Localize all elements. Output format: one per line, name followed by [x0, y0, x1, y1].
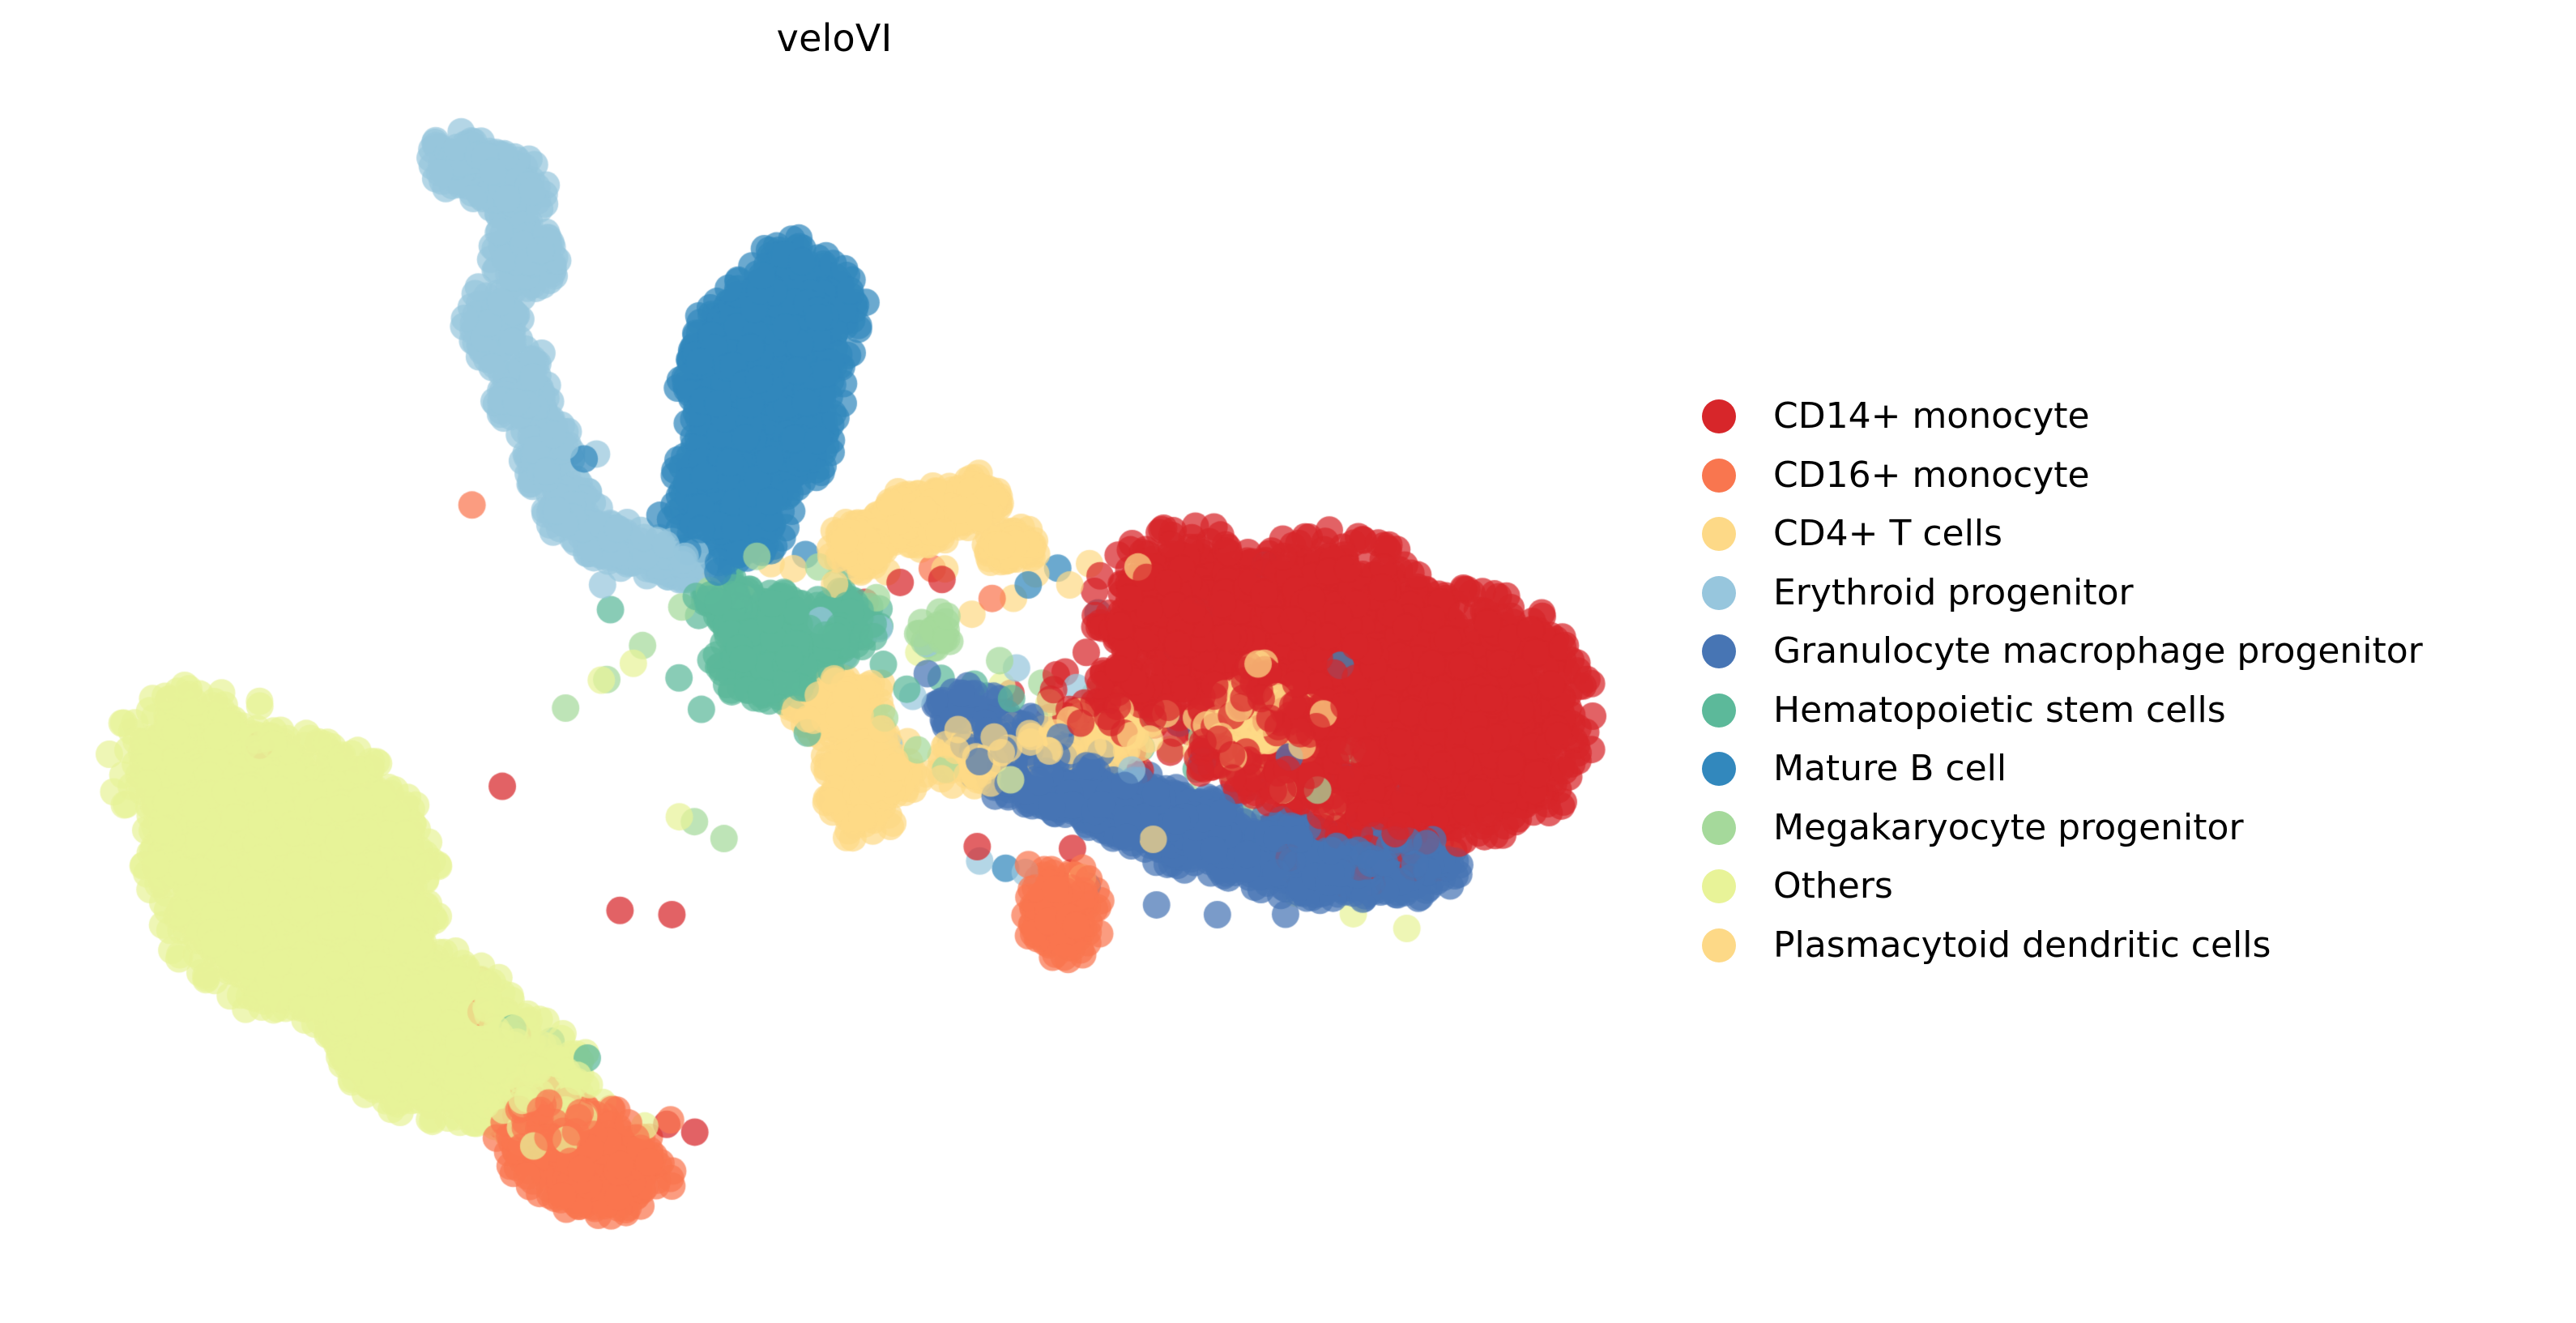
legend-item-label: CD14+ monocyte — [1773, 399, 2090, 434]
legend-item[interactable]: Plasmacytoid dendritic cells — [1689, 916, 2548, 975]
legend-item-label: Megakaryocyte progenitor — [1773, 810, 2244, 846]
legend-item[interactable]: Others — [1689, 857, 2548, 916]
figure-container: veloVI CD14+ monocyteCD16+ monocyteCD4+ … — [0, 0, 2576, 1323]
legend-item[interactable]: CD14+ monocyte — [1689, 387, 2548, 446]
legend-item[interactable]: CD16+ monocyte — [1689, 446, 2548, 506]
legend-marker-icon — [1702, 694, 1736, 728]
legend-marker-icon — [1702, 634, 1736, 668]
legend-item[interactable]: Megakaryocyte progenitor — [1689, 799, 2548, 858]
legend-item[interactable]: Erythroid progenitor — [1689, 564, 2548, 623]
legend-marker-icon — [1702, 399, 1736, 433]
legend: CD14+ monocyteCD16+ monocyteCD4+ T cells… — [1689, 387, 2548, 975]
legend-item-label: Others — [1773, 868, 1893, 904]
legend-item-label: CD16+ monocyte — [1773, 458, 2090, 493]
legend-marker-icon — [1702, 459, 1736, 493]
legend-item[interactable]: Mature B cell — [1689, 740, 2548, 799]
page-title: veloVI — [0, 16, 1669, 60]
legend-marker-icon — [1702, 811, 1736, 845]
legend-item-label: Granulocyte macrophage progenitor — [1773, 634, 2423, 669]
legend-item-label: Mature B cell — [1773, 751, 2007, 787]
legend-item[interactable]: Hematopoietic stem cells — [1689, 681, 2548, 740]
legend-item-label: Hematopoietic stem cells — [1773, 693, 2226, 728]
legend-marker-icon — [1702, 869, 1736, 903]
legend-marker-icon — [1702, 752, 1736, 786]
legend-marker-icon — [1702, 928, 1736, 962]
legend-marker-icon — [1702, 517, 1736, 551]
legend-item-label: Erythroid progenitor — [1773, 575, 2134, 611]
legend-item-label: CD4+ T cells — [1773, 516, 2002, 552]
legend-item-label: Plasmacytoid dendritic cells — [1773, 928, 2271, 963]
legend-item[interactable]: Granulocyte macrophage progenitor — [1689, 622, 2548, 681]
legend-item[interactable]: CD4+ T cells — [1689, 505, 2548, 564]
legend-marker-icon — [1702, 576, 1736, 610]
